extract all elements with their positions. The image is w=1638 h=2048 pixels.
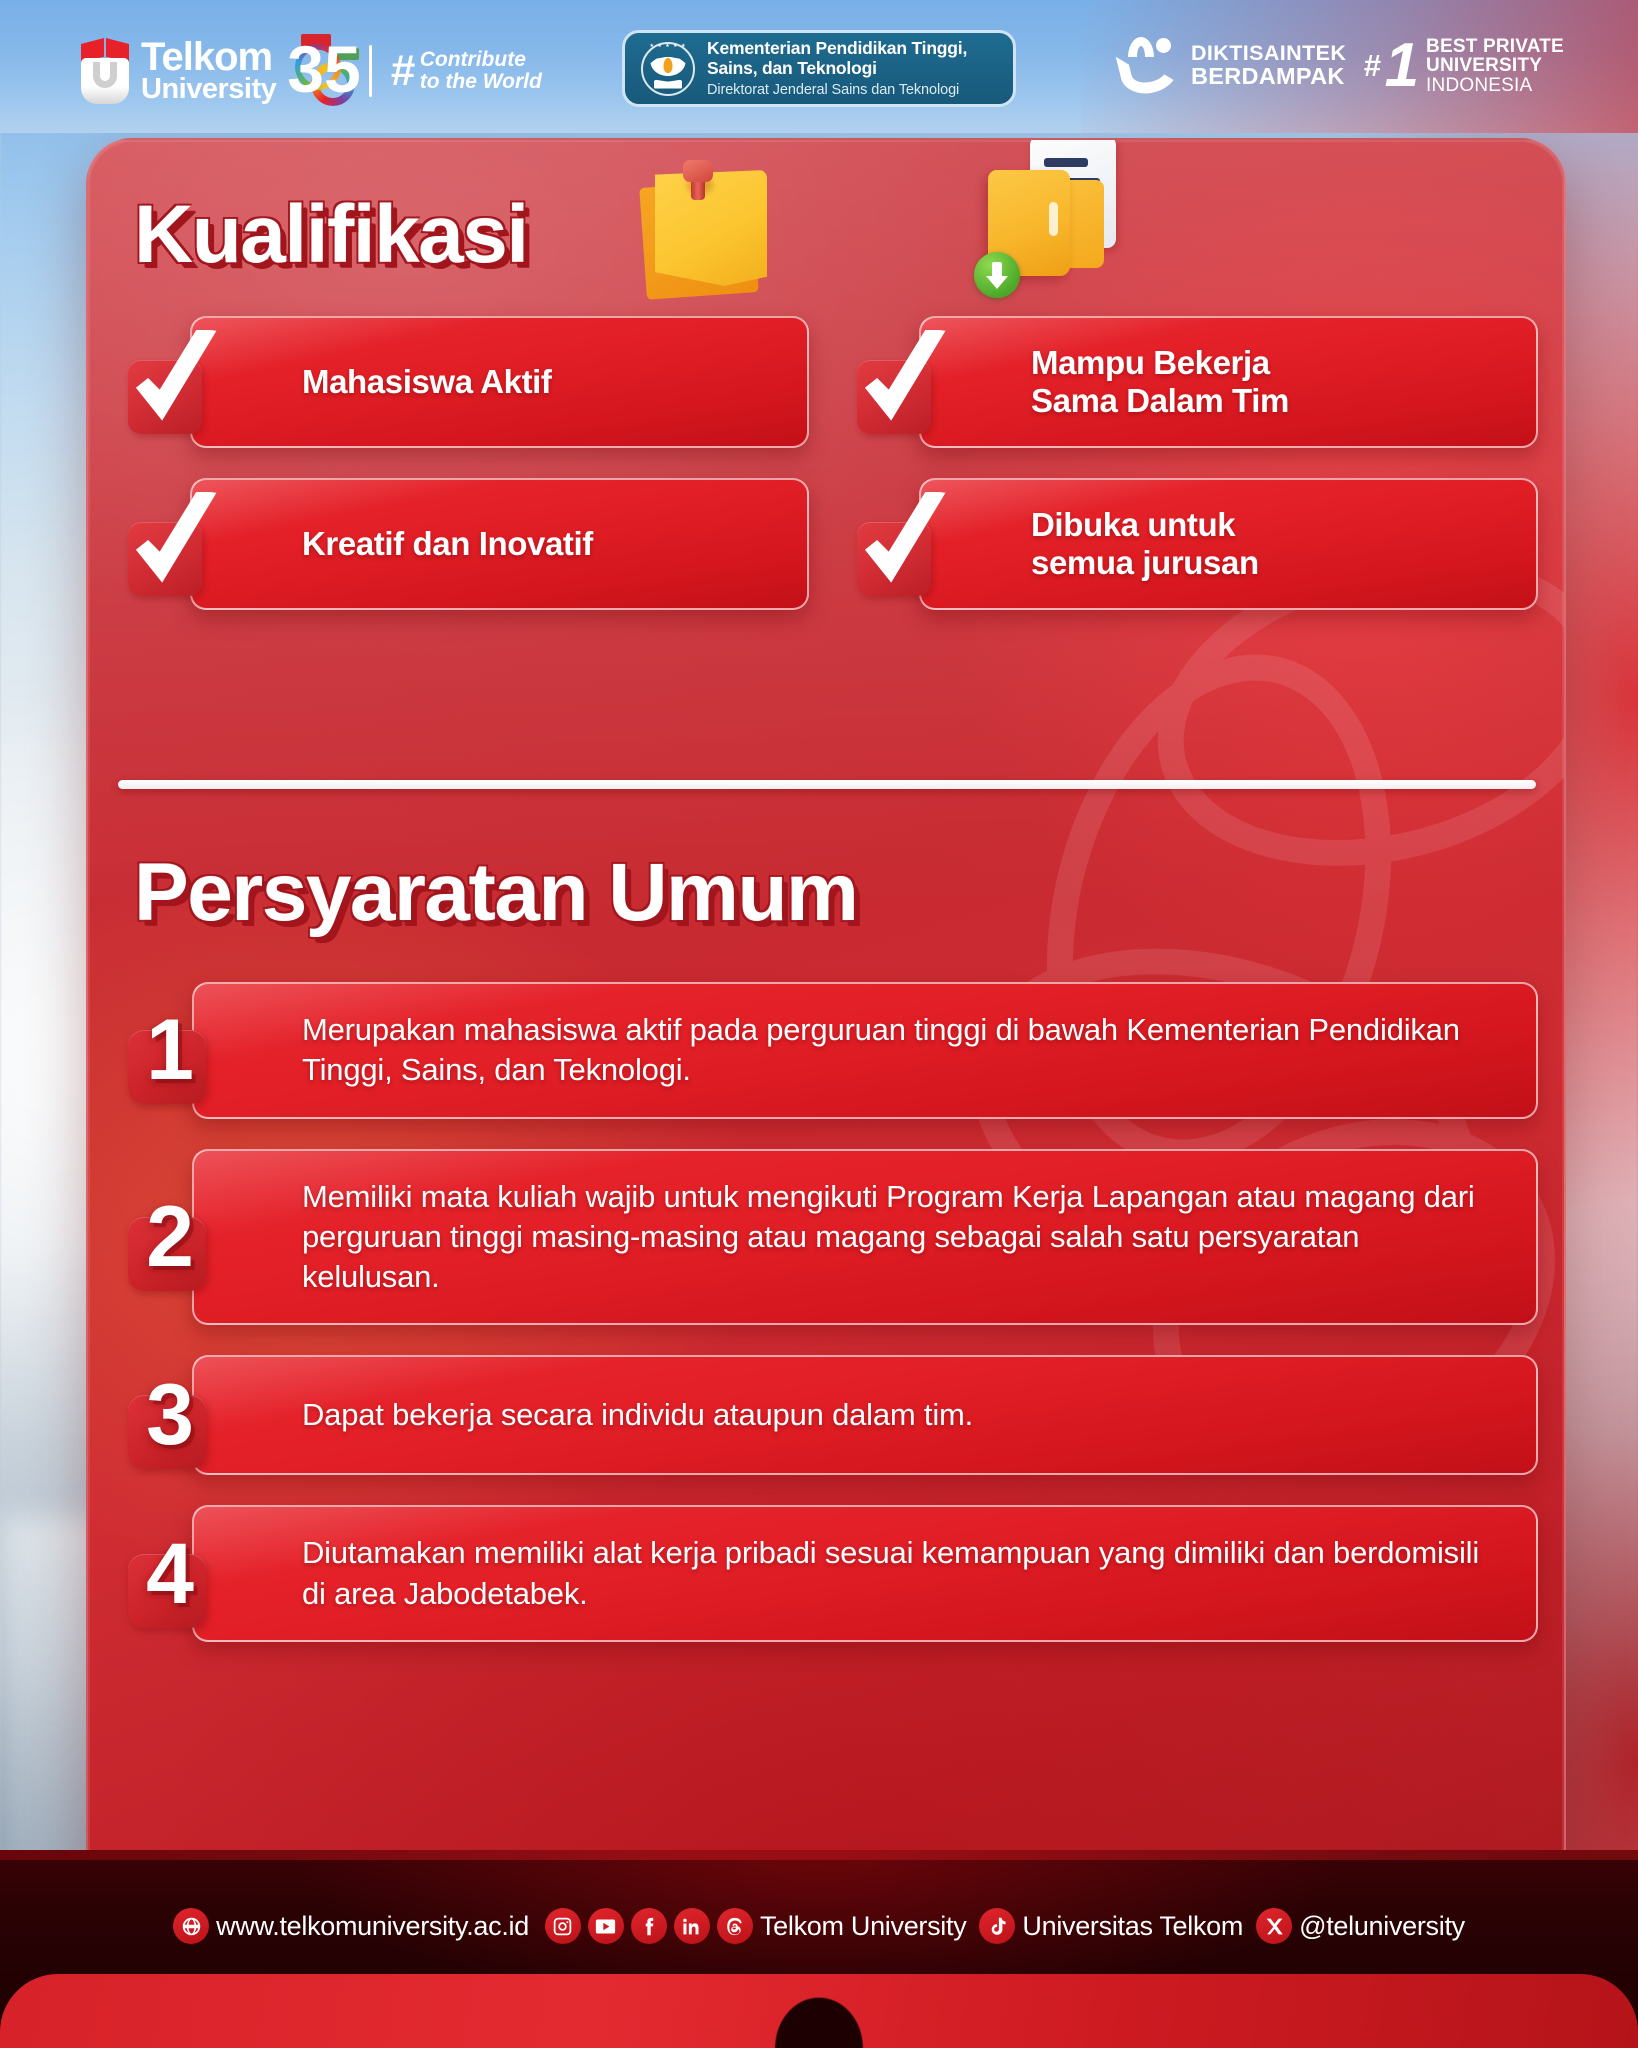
- diktisaintek-line2: BERDAMPAK: [1191, 65, 1346, 89]
- qualification-label: Dibuka untuk semua jurusan: [1031, 506, 1259, 583]
- social-handle-x[interactable]: @teluniversity: [1299, 1911, 1465, 1942]
- telkom-university-logo[interactable]: Telkom University 35 # Contribute to the…: [78, 34, 542, 108]
- contribute-tagline: # Contribute to the World: [390, 46, 542, 96]
- qualification-label: Mampu Bekerja Sama Dalam Tim: [1031, 344, 1289, 421]
- requirement-number: 2: [122, 1179, 218, 1295]
- qualification-card: Mampu Bekerja Sama Dalam Tim: [919, 316, 1538, 448]
- requirement-card: Memiliki mata kuliah wajib untuk mengiku…: [192, 1149, 1538, 1326]
- rank-number: 1: [1385, 41, 1419, 91]
- footer-top-accent: [0, 1850, 1638, 1860]
- footer-center-notch: [759, 1974, 879, 2048]
- sticky-note-pinned-icon: [633, 158, 773, 308]
- qualification-item[interactable]: Mampu Bekerja Sama Dalam Tim: [847, 316, 1538, 448]
- requirements-title: Persyaratan Umum: [134, 846, 857, 940]
- checkmark-icon: [857, 492, 945, 596]
- ministry-line3: Direktorat Jenderal Sains dan Teknologi: [707, 81, 967, 100]
- requirement-number: 3: [122, 1357, 218, 1473]
- rank-line2: UNIVERSITY: [1426, 56, 1564, 76]
- footer-bar: www.telkomuniversity.ac.id Telkom Univer…: [0, 1850, 1638, 2048]
- qualification-label: Kreatif dan Inovatif: [302, 525, 593, 563]
- qualification-item[interactable]: Mahasiswa Aktif: [118, 316, 809, 448]
- tagline-line1: Contribute: [420, 49, 542, 71]
- requirement-item[interactable]: Diutamakan memiliki alat kerja pribadi s…: [118, 1505, 1538, 1642]
- hash-symbol: #: [390, 46, 414, 96]
- qualification-card: Kreatif dan Inovatif: [190, 478, 809, 610]
- ministry-education-seal-icon: ★ ★ ★ ★ ★: [641, 42, 695, 96]
- diktisaintek-wordmark: DIKTISAINTEK BERDAMPAK: [1191, 43, 1346, 89]
- requirement-item[interactable]: Merupakan mahasiswa aktif pada perguruan…: [118, 982, 1538, 1119]
- 35th-anniversary-icon: 35: [287, 34, 355, 108]
- section-divider: [118, 780, 1536, 789]
- anniversary-number: 35: [287, 36, 360, 102]
- globe-icon[interactable]: [173, 1908, 209, 1944]
- requirement-card: Merupakan mahasiswa aktif pada perguruan…: [192, 982, 1538, 1119]
- tagline-line2: to the World: [420, 71, 542, 93]
- requirement-text: Merupakan mahasiswa aktif pada perguruan…: [302, 1010, 1504, 1091]
- rank-line1: BEST PRIVATE: [1426, 37, 1564, 57]
- facebook-icon[interactable]: [631, 1908, 667, 1944]
- diktisaintek-berdampak-icon: [1118, 35, 1180, 97]
- telkom-university-shield-icon: [78, 38, 132, 104]
- checkmark-icon: [128, 492, 216, 596]
- requirement-number-badge: 2: [122, 1179, 218, 1295]
- qualification-title: Kualifikasi: [134, 188, 528, 282]
- requirement-number: 4: [122, 1516, 218, 1632]
- requirement-number-badge: 1: [122, 992, 218, 1108]
- requirement-card: Diutamakan memiliki alat kerja pribadi s…: [192, 1505, 1538, 1642]
- threads-icon[interactable]: [717, 1908, 753, 1944]
- requirement-number-badge: 3: [122, 1357, 218, 1473]
- requirement-number-badge: 4: [122, 1516, 218, 1632]
- telkom-university-wordmark: Telkom University: [141, 39, 276, 102]
- diktisaintek-ranking-group: DIKTISAINTEK BERDAMPAK # 1 BEST PRIVATE …: [1118, 35, 1564, 97]
- rank-hash-symbol: #: [1363, 48, 1380, 84]
- social-handle-tiktok[interactable]: Universitas Telkom: [1022, 1911, 1243, 1942]
- requirement-text: Dapat bekerja secara individu ataupun da…: [302, 1395, 973, 1435]
- qualification-card: Dibuka untuk semua jurusan: [919, 478, 1538, 610]
- qualification-item[interactable]: Kreatif dan Inovatif: [118, 478, 809, 610]
- diktisaintek-line1: DIKTISAINTEK: [1191, 43, 1346, 65]
- header-bar: Telkom University 35 # Contribute to the…: [0, 0, 1638, 133]
- requirement-item[interactable]: Memiliki mata kuliah wajib untuk mengiku…: [118, 1149, 1538, 1326]
- checkmark-icon: [128, 330, 216, 434]
- x-twitter-icon[interactable]: [1256, 1908, 1292, 1944]
- tiktok-icon[interactable]: [979, 1908, 1015, 1944]
- telkom-wordmark-line1: Telkom: [141, 39, 276, 76]
- footer-social-row: www.telkomuniversity.ac.id Telkom Univer…: [0, 1908, 1638, 1944]
- requirement-item[interactable]: Dapat bekerja secara individu ataupun da…: [118, 1355, 1538, 1475]
- folder-document-download-icon: [968, 138, 1138, 302]
- content-panel: Kualifikasi Mahasiswa Aktif Mampu Bekerj…: [86, 138, 1566, 1892]
- ministry-line2: Sains, dan Teknologi: [707, 58, 967, 78]
- requirement-number: 1: [122, 992, 218, 1108]
- qualification-grid: Mahasiswa Aktif Mampu Bekerja Sama Dalam…: [118, 316, 1538, 610]
- requirement-card: Dapat bekerja secara individu ataupun da…: [192, 1355, 1538, 1475]
- youtube-icon[interactable]: [588, 1908, 624, 1944]
- linkedin-icon[interactable]: [674, 1908, 710, 1944]
- social-handle-threads[interactable]: Telkom University: [760, 1911, 966, 1942]
- checkmark-icon: [857, 330, 945, 434]
- requirement-text: Diutamakan memiliki alat kerja pribadi s…: [302, 1533, 1504, 1614]
- requirement-text: Memiliki mata kuliah wajib untuk mengiku…: [302, 1177, 1504, 1298]
- header-divider: [369, 45, 372, 97]
- requirements-list: Merupakan mahasiswa aktif pada perguruan…: [118, 982, 1538, 1672]
- website-url[interactable]: www.telkomuniversity.ac.id: [216, 1911, 529, 1942]
- telkom-wordmark-line2: University: [141, 76, 276, 103]
- qualification-label: Mahasiswa Aktif: [302, 363, 552, 401]
- rank-badge: # 1 BEST PRIVATE UNIVERSITY INDONESIA: [1363, 37, 1564, 96]
- ministry-plaque: ★ ★ ★ ★ ★ Kementerian Pendidikan Tinggi,…: [622, 30, 1016, 107]
- instagram-icon[interactable]: [545, 1908, 581, 1944]
- ministry-line1: Kementerian Pendidikan Tinggi,: [707, 38, 967, 58]
- qualification-item[interactable]: Dibuka untuk semua jurusan: [847, 478, 1538, 610]
- rank-line3: INDONESIA: [1426, 76, 1564, 96]
- qualification-card: Mahasiswa Aktif: [190, 316, 809, 448]
